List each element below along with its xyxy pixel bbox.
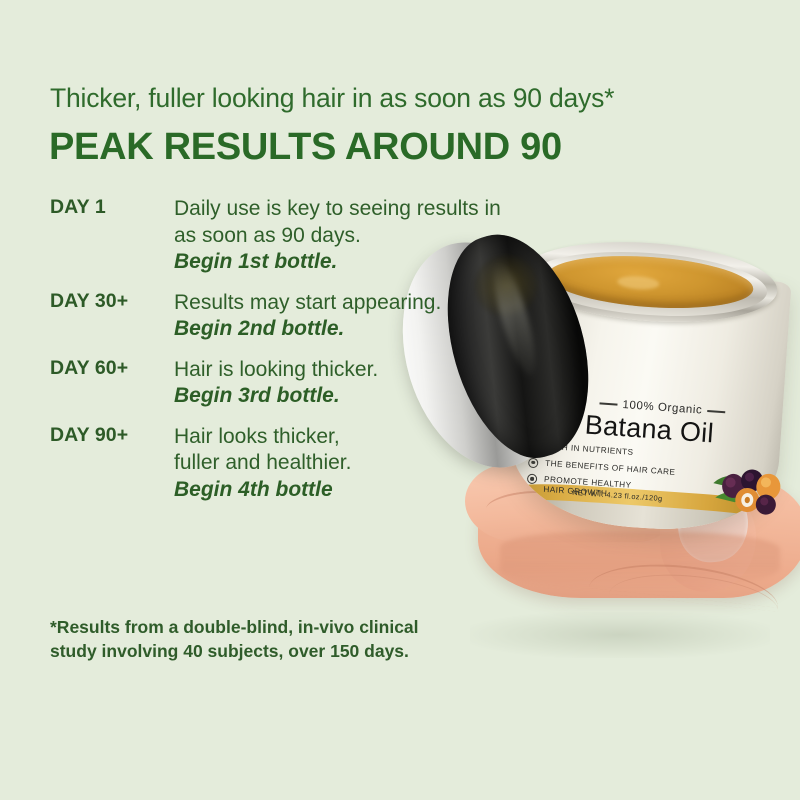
timeline-line: Hair is looking thicker. <box>174 357 520 384</box>
footnote-line: *Results from a double-blind, in-vivo cl… <box>50 615 520 639</box>
timeline-description: Results may start appearing. Begin 2nd b… <box>174 290 520 343</box>
timeline-row: DAY 90+ Hair looks thicker, fuller and h… <box>0 424 520 504</box>
page-title: PEAK RESULTS AROUND 90 <box>49 126 562 169</box>
timeline-bottle-note: Begin 1st bottle. <box>174 249 520 276</box>
timeline-line: Results may start appearing. <box>174 290 520 317</box>
headline-subtitle: Thicker, fuller looking hair in as soon … <box>50 83 614 114</box>
results-timeline: DAY 1 Daily use is key to seeing results… <box>0 196 520 517</box>
timeline-line: Daily use is key to seeing results in <box>174 196 520 223</box>
timeline-description: Daily use is key to seeing results in as… <box>174 196 520 276</box>
footnote-line: study involving 40 subjects, over 150 da… <box>50 639 520 663</box>
timeline-description: Hair is looking thicker. Begin 3rd bottl… <box>174 357 520 410</box>
timeline-bottle-note: Begin 2nd bottle. <box>174 316 520 343</box>
timeline-line: fuller and healthier. <box>174 450 520 477</box>
timeline-day-label: DAY 90+ <box>50 424 168 447</box>
timeline-line: Hair looks thicker, <box>174 424 520 451</box>
text-content: Thicker, fuller looking hair in as soon … <box>0 0 800 800</box>
footnote: *Results from a double-blind, in-vivo cl… <box>50 615 520 663</box>
timeline-day-label: DAY 30+ <box>50 290 168 313</box>
timeline-description: Hair looks thicker, fuller and healthier… <box>174 424 520 504</box>
timeline-bottle-note: Begin 4th bottle <box>174 477 520 504</box>
timeline-row: DAY 1 Daily use is key to seeing results… <box>0 196 520 276</box>
timeline-bottle-note: Begin 3rd bottle. <box>174 383 520 410</box>
timeline-day-label: DAY 1 <box>50 196 168 219</box>
infographic-page: 100% Organic Batana Oil RICH IN NUTRIENT… <box>0 0 800 800</box>
timeline-row: DAY 30+ Results may start appearing. Beg… <box>0 290 520 343</box>
timeline-line: as soon as 90 days. <box>174 223 520 250</box>
timeline-row: DAY 60+ Hair is looking thicker. Begin 3… <box>0 357 520 410</box>
timeline-day-label: DAY 60+ <box>50 357 168 380</box>
